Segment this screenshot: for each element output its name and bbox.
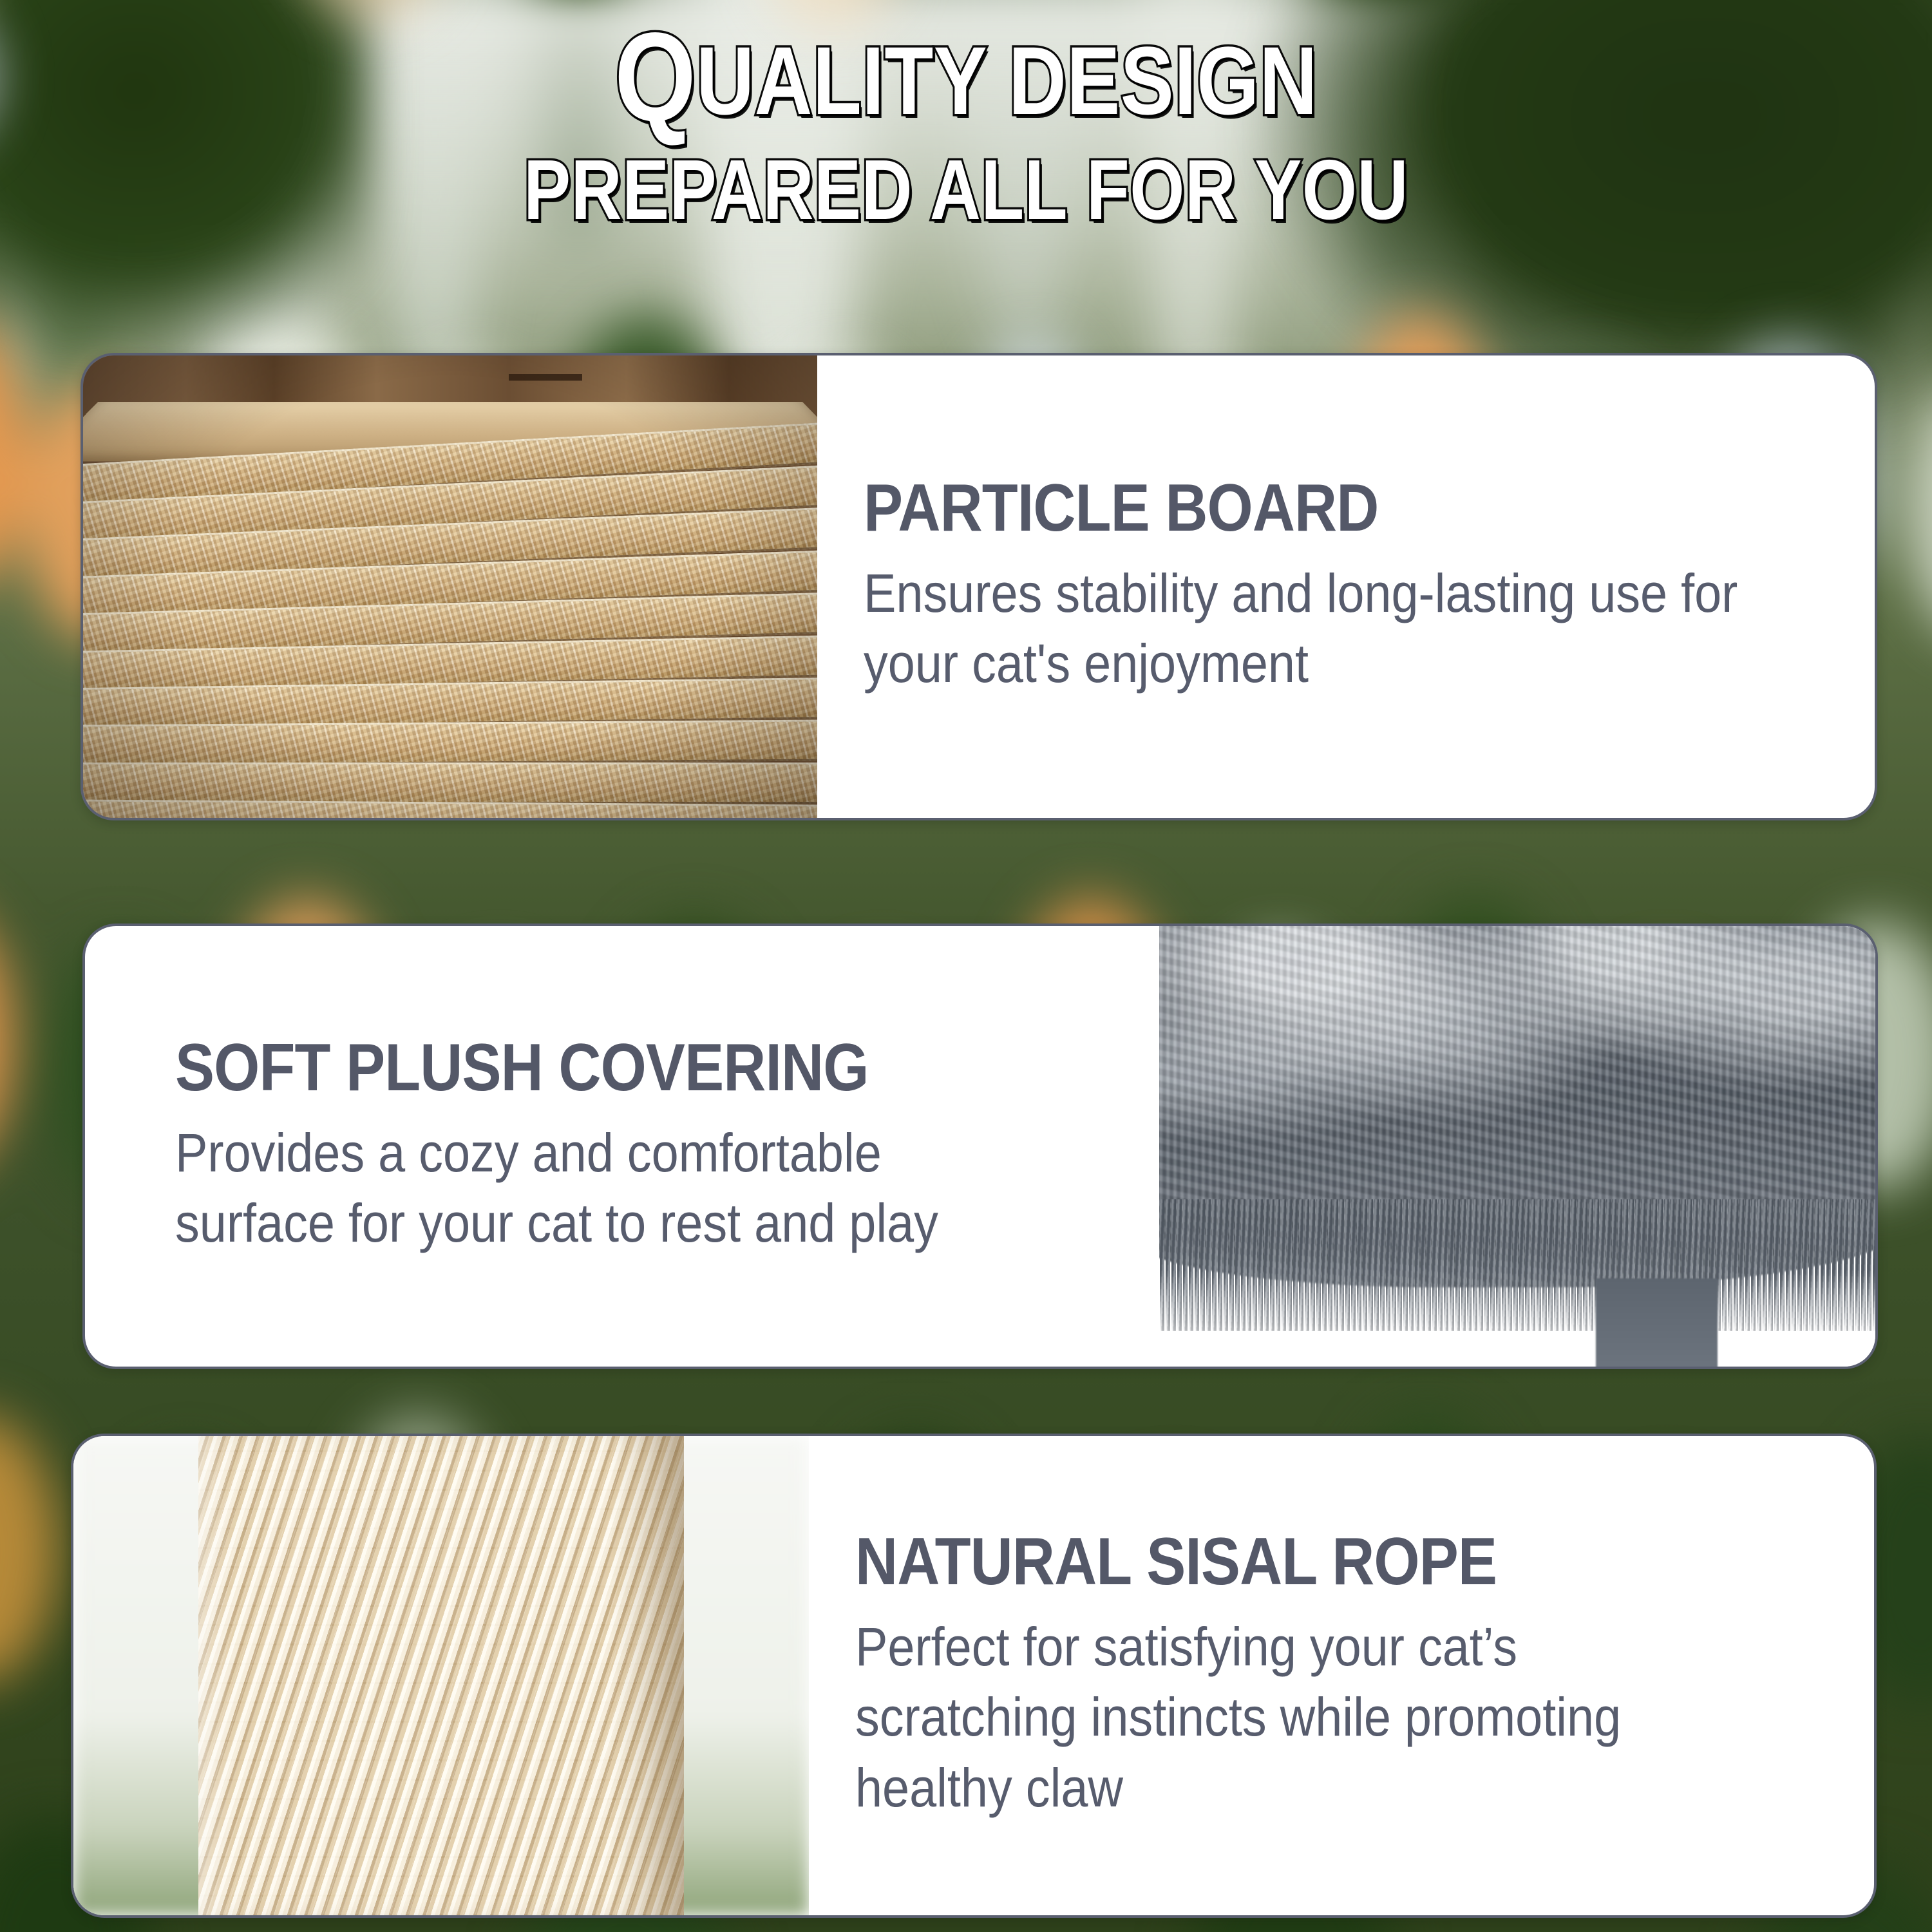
feature-card-natural-sisal-rope: NATURAL SISAL ROPE Perfect for satisfyin…: [71, 1434, 1877, 1918]
sisal-rope-text-block: NATURAL SISAL ROPE Perfect for satisfyin…: [809, 1436, 1874, 1915]
sisal-rope-description: Perfect for satisfying your cat’s scratc…: [855, 1612, 1738, 1823]
feature-card-particle-board: PARTICLE BOARD Ensures stability and lon…: [80, 353, 1877, 820]
sisal-rope-photo-art: [73, 1436, 809, 1915]
soft-plush-description: Provides a cozy and comfortable surface …: [175, 1118, 1037, 1258]
page-title: QUALITY DESIGN PREPARED ALL FOR YOU: [0, 15, 1932, 231]
particle-board-text-block: PARTICLE BOARD Ensures stability and lon…: [817, 355, 1875, 818]
sisal-rope-heading: NATURAL SISAL ROPE: [855, 1528, 1718, 1595]
feature-card-soft-plush-covering: SOFT PLUSH COVERING Provides a cozy and …: [82, 923, 1878, 1369]
particle-board-photo-art: [83, 355, 817, 818]
soft-plush-text-block: SOFT PLUSH COVERING Provides a cozy and …: [85, 926, 1159, 1367]
grey-plush-image: [1159, 926, 1875, 1367]
grey-plush-photo-art: [1159, 926, 1875, 1367]
soft-plush-heading: SOFT PLUSH COVERING: [175, 1034, 1018, 1101]
plush-fur-fringe: [1159, 1199, 1875, 1331]
sisal-rope-image: [73, 1436, 809, 1915]
particle-board-description: Ensures stability and long-lasting use f…: [864, 558, 1739, 699]
title-line-1-dropcap: Q: [614, 6, 696, 147]
plush-post-leg: [1596, 1278, 1718, 1367]
sisal-rope-shading: [611, 1436, 684, 1915]
particle-board-vignette: [83, 355, 817, 818]
particle-board-heading: PARTICLE BOARD: [864, 475, 1719, 542]
title-line-2: PREPARED ALL FOR YOU: [164, 148, 1768, 231]
particle-board-image: [83, 355, 817, 818]
title-line-1: QUALITY DESIGN: [164, 15, 1768, 139]
title-line-1-rest: UALITY DESIGN: [696, 26, 1318, 135]
